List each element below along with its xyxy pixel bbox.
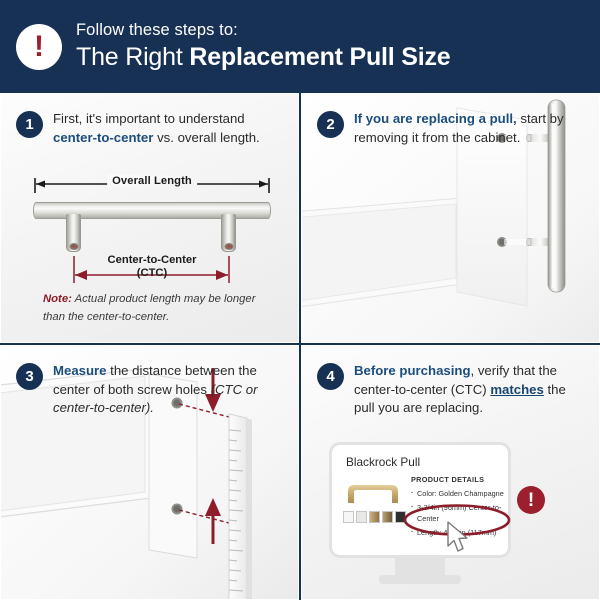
bar-pull-post-right <box>221 214 236 252</box>
step-number-badge-3: 3 <box>16 363 43 390</box>
step-3-text: Measure the distance between the center … <box>53 362 288 418</box>
matches-link[interactable]: matches <box>490 382 544 397</box>
ctc-dimension: Center-to-Center (CTC) <box>29 254 275 284</box>
swatch-4[interactable] <box>382 511 393 523</box>
step-number-badge-4: 4 <box>317 363 344 390</box>
step-panel-3: 3 Measure the distance between the cente… <box>0 345 299 600</box>
screw-hole-left-icon <box>69 243 78 250</box>
step-panel-2: 2 If you are replacing a pull, start by … <box>301 93 600 343</box>
swatch-1[interactable] <box>343 511 354 523</box>
step-number-badge-1: 1 <box>16 111 43 138</box>
monitor-illustration: Blackrock Pull <box>329 442 529 592</box>
detail-color: Color: Golden Champagne <box>411 489 507 499</box>
header-banner: ! Follow these steps to: The Right Repla… <box>0 0 600 93</box>
bar-pull-post-left <box>66 214 81 252</box>
step-number-badge-2: 2 <box>317 111 344 138</box>
product-thumbnail-swatches[interactable] <box>343 511 406 523</box>
step-1-bold: center-to-center <box>53 130 153 145</box>
swatch-2[interactable] <box>356 511 367 523</box>
screw-hole-right-icon <box>224 243 233 250</box>
step-1-text: First, it's important to understand cent… <box>53 110 288 147</box>
ctc-label: Center-to-Center <box>108 254 197 266</box>
step-4-text: Before purchasing, verify that the cente… <box>354 362 589 418</box>
exclamation-icon: ! <box>16 24 62 70</box>
product-details-heading: PRODUCT DETAILS <box>411 475 507 484</box>
step-2-heading: 2 If you are replacing a pull, start by … <box>317 110 589 147</box>
step-3-heading: 3 Measure the distance between the cente… <box>16 362 288 418</box>
infographic-root: ! Follow these steps to: The Right Repla… <box>0 0 600 600</box>
header-kicker: Follow these steps to: <box>76 21 451 40</box>
product-page-screen: Blackrock Pull <box>329 442 511 558</box>
note-body: Actual product length may be longer than… <box>43 293 255 323</box>
monitor-base <box>379 575 461 584</box>
overall-length-label: Overall Length <box>107 175 197 187</box>
product-image-golden-pull <box>344 479 402 505</box>
pull-measurement-diagram: Overall Length <box>29 176 275 281</box>
exclamation-glyph: ! <box>34 32 44 62</box>
warning-exclamation-glyph: ! <box>528 491 534 510</box>
header-text-group: Follow these steps to: The Right Replace… <box>76 21 451 72</box>
ctc-label-group: Center-to-Center (CTC) <box>108 254 197 279</box>
mouse-pointer-icon <box>446 521 472 553</box>
step-2-bold: If you are replacing a pull, <box>354 111 517 126</box>
title-bold: Replacement Pull Size <box>189 43 450 71</box>
step-3-bold: Measure <box>53 363 107 378</box>
step-1-heading: 1 First, it's important to understand ce… <box>16 110 288 147</box>
page-title: The Right Replacement Pull Size <box>76 43 451 72</box>
step-panel-4: 4 Before purchasing, verify that the cen… <box>301 345 600 600</box>
step-panel-1: 1 First, it's important to understand ce… <box>0 93 299 343</box>
swatch-3[interactable] <box>369 511 380 523</box>
title-light: The Right <box>76 43 189 71</box>
product-title: Blackrock Pull <box>346 455 420 469</box>
step-4-bold: Before purchasing <box>354 363 471 378</box>
warning-exclamation-icon: ! <box>517 486 545 514</box>
note-prefix: Note: <box>43 293 72 305</box>
step-1-tail: vs. overall length. <box>153 130 259 145</box>
monitor-stand <box>395 558 445 576</box>
ctc-sublabel: (CTC) <box>108 267 197 279</box>
steps-grid: 1 First, it's important to understand ce… <box>0 93 600 600</box>
step-1-note: Note: Actual product length may be longe… <box>43 290 276 327</box>
step-4-heading: 4 Before purchasing, verify that the cen… <box>317 362 589 418</box>
overall-length-dimension: Overall Length <box>33 176 271 194</box>
step-2-text: If you are replacing a pull, start by re… <box>354 110 589 147</box>
step-1-lead: First, it's important to understand <box>53 111 245 126</box>
